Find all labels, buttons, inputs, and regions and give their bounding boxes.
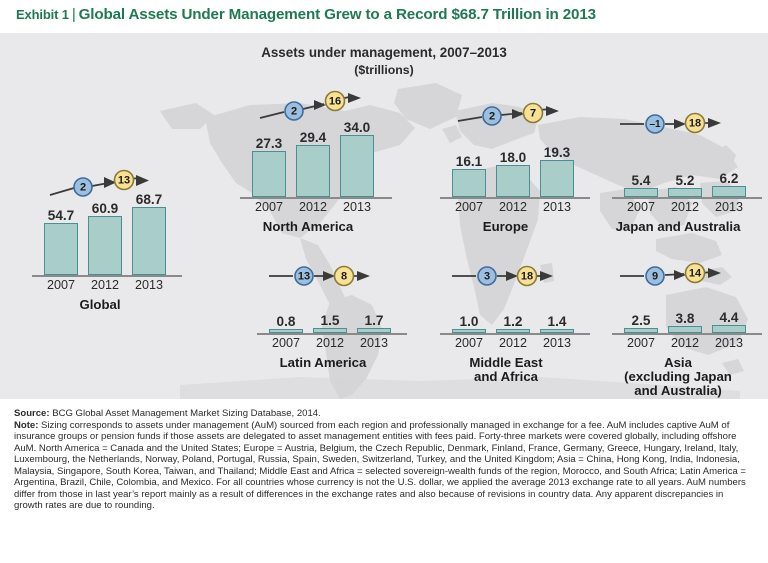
badge-ja-2007-2012: –1 <box>649 119 661 130</box>
chart-panel: Assets under management, 2007–2013 ($tri… <box>0 33 768 399</box>
bar-rect-na-2013 <box>340 135 374 197</box>
badge-global-2013: 13 <box>118 175 130 187</box>
growth-annotation-asia: 9 14 <box>618 263 738 287</box>
year-eu-2007: 2007 <box>447 200 491 214</box>
bar-rect-eu-2007 <box>452 169 486 197</box>
region-label-mea-line1: Middle East <box>428 356 584 370</box>
source-text: BCG Global Asset Management Market Sizin… <box>50 408 321 419</box>
bars-japan-australia: 5.4 5.2 6.2 <box>600 135 760 197</box>
bar-label-mea-2013: 1.4 <box>548 314 567 329</box>
growth-annotation-japan-australia: –1 18 <box>618 111 738 135</box>
region-asia: 9 14 2.5 3.8 4.4 <box>600 263 760 393</box>
region-global: 2 13 54.7 60.9 68.7 <box>20 173 180 283</box>
bar-label-na-2013: 34.0 <box>344 120 370 135</box>
year-la-2013: 2013 <box>352 336 396 350</box>
bars-global: 54.7 60.9 68.7 <box>20 203 180 275</box>
note-text: Sizing corresponds to assets under manag… <box>14 420 746 512</box>
bar-ja-2013: 6.2 <box>710 186 748 197</box>
bar-rect-global-2013 <box>132 207 166 275</box>
badge-asia-2007-2012: 9 <box>652 271 658 283</box>
badge-la-2007-2012: 13 <box>298 271 310 283</box>
bar-rect-eu-2012 <box>496 165 530 197</box>
badge-asia-2013: 14 <box>689 268 702 280</box>
bar-eu-2012: 18.0 <box>494 165 532 197</box>
bar-asia-2013: 4.4 <box>710 325 748 333</box>
year-na-2012: 2012 <box>291 200 335 214</box>
year-la-2007: 2007 <box>264 336 308 350</box>
year-global-2012: 2012 <box>83 278 127 292</box>
region-label-global: Global <box>20 298 180 312</box>
region-label-mea-line2: and Africa <box>428 370 584 384</box>
bar-label-na-2012: 29.4 <box>300 130 326 145</box>
bar-na-2007: 27.3 <box>250 151 288 197</box>
page-title: Exhibit 1|Global Assets Under Management… <box>16 6 596 23</box>
year-eu-2012: 2012 <box>491 200 535 214</box>
year-ja-2012: 2012 <box>663 200 707 214</box>
year-global-2013: 2013 <box>127 278 171 292</box>
axis-europe <box>440 197 590 199</box>
bar-global-2013: 68.7 <box>130 207 168 275</box>
bar-label-global-2007: 54.7 <box>48 208 74 223</box>
bars-middle-east-africa: 1.0 1.2 1.4 <box>428 291 588 333</box>
year-asia-2013: 2013 <box>707 336 751 350</box>
chart-title: Assets under management, 2007–2013 <box>0 45 768 60</box>
region-europe: 2 7 16.1 18.0 19.3 <box>428 93 588 203</box>
badge-eu-2007-2012: 2 <box>489 111 495 123</box>
exhibit-label: Exhibit 1 <box>16 7 69 22</box>
title-divider: | <box>69 6 79 23</box>
bar-label-la-2013: 1.7 <box>365 313 384 328</box>
axis-japan-australia <box>612 197 762 199</box>
chart-subtitle: ($trillions) <box>0 63 768 77</box>
bar-ja-2012: 5.2 <box>666 188 704 197</box>
axis-latin-america <box>257 333 407 335</box>
bar-rect-global-2007 <box>44 223 78 275</box>
region-label-japan-australia: Japan and Australia <box>600 220 756 234</box>
bar-na-2012: 29.4 <box>294 145 332 197</box>
year-la-2012: 2012 <box>308 336 352 350</box>
region-latin-america: 13 8 0.8 1.5 1.7 <box>245 263 405 373</box>
region-middle-east-africa: 3 18 1.0 1.2 1.4 <box>428 263 588 383</box>
region-label-asia: Asia (excluding Japan and Australia) <box>600 356 756 398</box>
badge-mea-2013: 18 <box>521 271 533 283</box>
bar-label-ja-2012: 5.2 <box>676 173 695 188</box>
year-global-2007: 2007 <box>39 278 83 292</box>
bar-label-global-2012: 60.9 <box>92 201 118 216</box>
bar-label-mea-2012: 1.2 <box>504 314 523 329</box>
bar-label-ja-2013: 6.2 <box>720 171 739 186</box>
bar-rect-global-2012 <box>88 216 122 275</box>
bar-ja-2007: 5.4 <box>622 188 660 197</box>
exhibit-page: Exhibit 1|Global Assets Under Management… <box>0 0 768 563</box>
header-bar: Exhibit 1|Global Assets Under Management… <box>0 0 768 33</box>
region-label-asia-line1: Asia <box>600 356 756 370</box>
source-label: Source: <box>14 408 50 419</box>
year-asia-2012: 2012 <box>663 336 707 350</box>
bar-label-asia-2013: 4.4 <box>720 310 739 325</box>
region-north-america: 2 16 27.3 29.4 34.0 <box>228 93 398 203</box>
year-na-2013: 2013 <box>335 200 379 214</box>
bars-north-america: 27.3 29.4 34.0 <box>228 125 398 197</box>
year-asia-2007: 2007 <box>619 336 663 350</box>
region-label-asia-line2: (excluding Japan <box>600 370 756 384</box>
bars-latin-america: 0.8 1.5 1.7 <box>245 291 405 333</box>
year-ja-2007: 2007 <box>619 200 663 214</box>
badge-na-2013: 16 <box>329 96 341 108</box>
year-ja-2013: 2013 <box>707 200 751 214</box>
bar-rect-na-2007 <box>252 151 286 197</box>
axis-asia <box>612 333 762 335</box>
bar-asia-2012: 3.8 <box>666 326 704 333</box>
badge-mea-2007-2012: 3 <box>484 271 490 283</box>
bar-label-global-2013: 68.7 <box>136 192 162 207</box>
badge-global-2007-2012: 2 <box>80 182 86 194</box>
badge-na-2007-2012: 2 <box>291 106 297 118</box>
region-label-middle-east-africa: Middle East and Africa <box>428 356 584 384</box>
badge-eu-2013: 7 <box>530 108 536 120</box>
bar-label-eu-2007: 16.1 <box>456 154 482 169</box>
bar-rect-ja-2012 <box>668 188 702 197</box>
note-line: Note: Sizing corresponds to assets under… <box>14 420 754 512</box>
year-mea-2012: 2012 <box>491 336 535 350</box>
bar-label-ja-2007: 5.4 <box>632 173 651 188</box>
bar-eu-2007: 16.1 <box>450 169 488 197</box>
year-mea-2007: 2007 <box>447 336 491 350</box>
source-line: Source: BCG Global Asset Management Mark… <box>14 408 754 420</box>
axis-middle-east-africa <box>440 333 590 335</box>
badge-ja-2013: 18 <box>689 118 701 130</box>
bar-label-la-2012: 1.5 <box>321 313 340 328</box>
bar-rect-asia-2013 <box>712 325 746 333</box>
bar-rect-asia-2012 <box>668 326 702 333</box>
footnotes-section: Source: BCG Global Asset Management Mark… <box>0 399 768 563</box>
note-label: Note: <box>14 420 38 431</box>
bar-rect-na-2012 <box>296 145 330 197</box>
year-eu-2013: 2013 <box>535 200 579 214</box>
region-label-europe: Europe <box>428 220 583 234</box>
title-text: Global Assets Under Management Grew to a… <box>79 6 596 23</box>
region-label-north-america: North America <box>228 220 388 234</box>
bar-global-2007: 54.7 <box>42 223 80 275</box>
bar-label-mea-2007: 1.0 <box>460 314 479 329</box>
bars-europe: 16.1 18.0 19.3 <box>428 125 588 197</box>
bar-na-2013: 34.0 <box>338 135 376 197</box>
bar-rect-eu-2013 <box>540 160 574 197</box>
bar-eu-2013: 19.3 <box>538 160 576 197</box>
axis-global <box>32 275 182 277</box>
bar-label-la-2007: 0.8 <box>277 314 296 329</box>
growth-annotation-latin-america: 13 8 <box>267 263 387 287</box>
growth-annotation-middle-east-africa: 3 18 <box>450 263 570 287</box>
bar-label-eu-2013: 19.3 <box>544 145 570 160</box>
region-label-latin-america: Latin America <box>245 356 401 370</box>
bar-global-2012: 60.9 <box>86 216 124 275</box>
year-na-2007: 2007 <box>247 200 291 214</box>
bars-asia: 2.5 3.8 4.4 <box>600 291 760 333</box>
bar-label-eu-2012: 18.0 <box>500 150 526 165</box>
region-japan-australia: –1 18 5.4 5.2 6.2 <box>600 103 760 213</box>
axis-north-america <box>240 197 392 199</box>
bar-rect-ja-2013 <box>712 186 746 197</box>
bar-label-asia-2012: 3.8 <box>676 311 695 326</box>
bar-label-asia-2007: 2.5 <box>632 313 651 328</box>
bar-rect-ja-2007 <box>624 188 658 197</box>
badge-la-2013: 8 <box>341 271 347 283</box>
year-mea-2013: 2013 <box>535 336 579 350</box>
growth-annotation-north-america: 2 16 <box>258 93 378 123</box>
bar-label-na-2007: 27.3 <box>256 136 282 151</box>
region-label-asia-line3: and Australia) <box>600 384 756 398</box>
